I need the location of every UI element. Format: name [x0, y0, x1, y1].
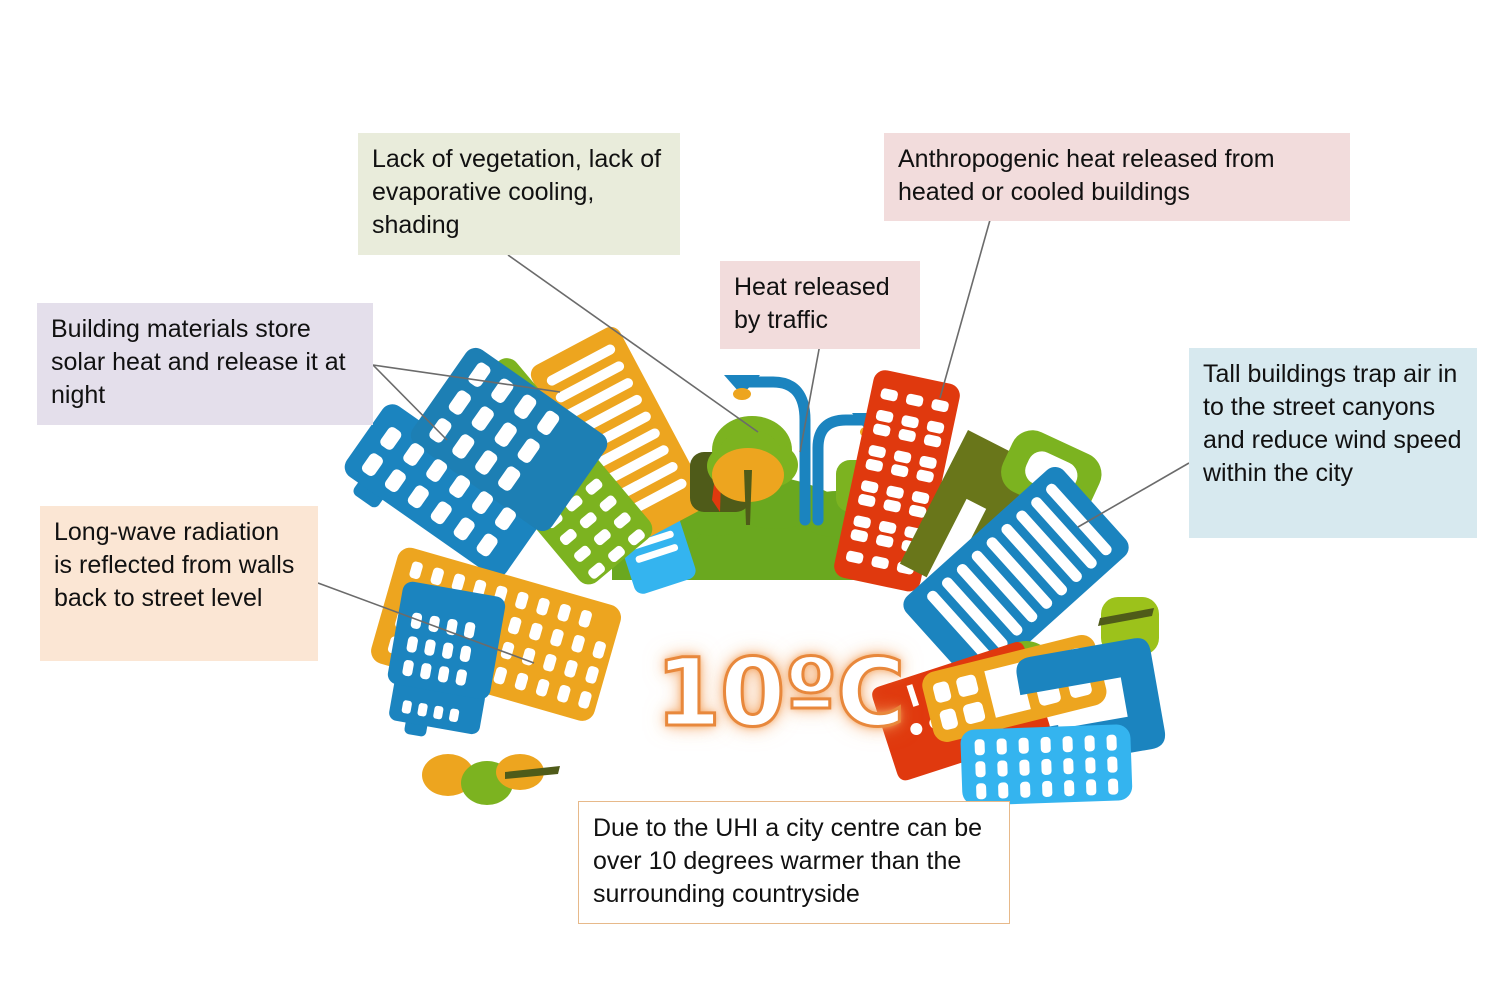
bushes-lower-left	[422, 754, 560, 805]
callout-anthropogenic-heat: Anthropogenic heat released from heated …	[884, 133, 1350, 221]
callout-tall-buildings-trap-air: Tall buildings trap air in to the street…	[1189, 348, 1477, 538]
callout-lack-of-vegetation: Lack of vegetation, lack of evaporative …	[358, 133, 680, 255]
callout-uhi-summary: Due to the UHI a city centre can be over…	[578, 801, 1010, 924]
callout-building-materials: Building materials store solar heat and …	[37, 303, 373, 425]
diagram-canvas: 10ºC Lack of vegetation, lack of evapora…	[0, 0, 1504, 1008]
callout-long-wave-radiation: Long-wave radiation is reflected from wa…	[40, 506, 318, 661]
callout-heat-released-by-traffic: Heat released by traffic	[720, 261, 920, 349]
building-lightblue-lower-right	[960, 724, 1133, 806]
center-temperature-label: 10ºC	[615, 638, 945, 748]
